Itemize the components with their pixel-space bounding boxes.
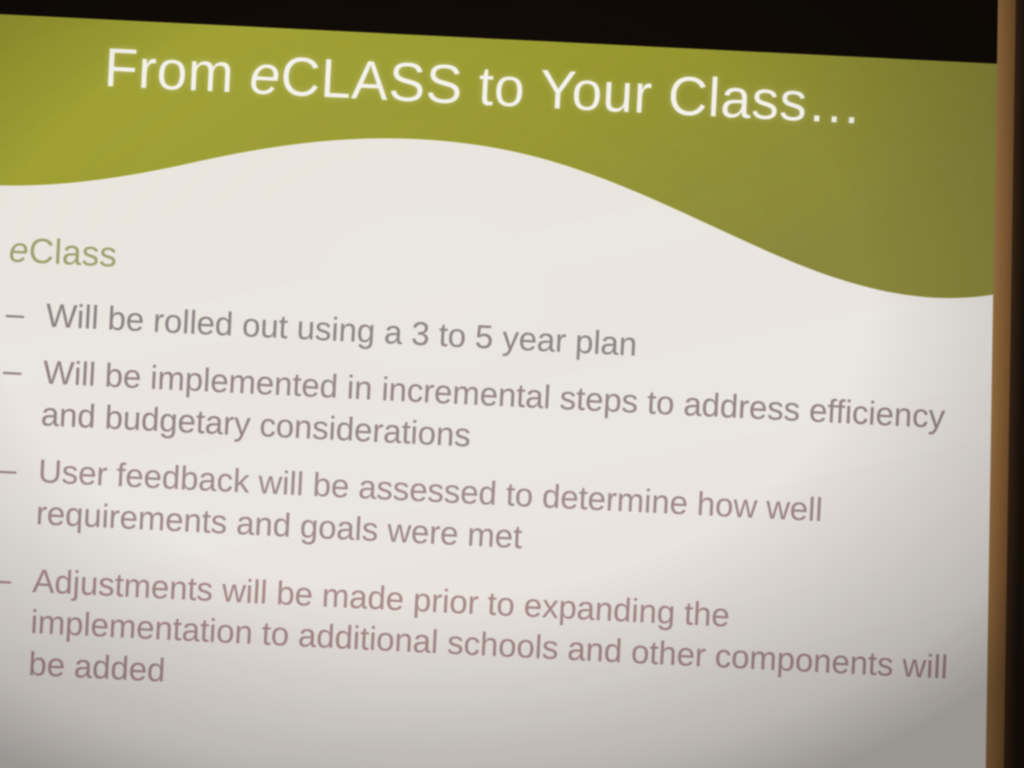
subheading-italic-e: e bbox=[8, 230, 30, 270]
bullet-text: Adjustments will be made prior to expand… bbox=[28, 562, 949, 689]
bullet-dash-icon: – bbox=[2, 349, 22, 392]
title-prefix: From bbox=[103, 36, 252, 105]
title-italic-e: e bbox=[248, 43, 282, 106]
bullet-list: – Will be rolled out using a 3 to 5 year… bbox=[0, 292, 971, 731]
subheading-rest: Class bbox=[28, 231, 118, 274]
bullet-dash-icon: – bbox=[0, 558, 12, 601]
bullet-dash-icon: – bbox=[0, 448, 18, 491]
slide-body: eClass – Will be rolled out using a 3 to… bbox=[0, 230, 974, 746]
projection-screen: From eCLASS to Your Class… eClass – Will… bbox=[0, 0, 1024, 768]
bullet-item: – Adjustments will be made prior to expa… bbox=[0, 558, 958, 732]
slide-canvas: From eCLASS to Your Class… eClass – Will… bbox=[0, 0, 1024, 768]
bullet-dash-icon: – bbox=[5, 292, 25, 335]
bullet-text: Will be rolled out using a 3 to 5 year p… bbox=[45, 296, 638, 362]
projector-screen-photo: From eCLASS to Your Class… eClass – Will… bbox=[0, 0, 1024, 768]
